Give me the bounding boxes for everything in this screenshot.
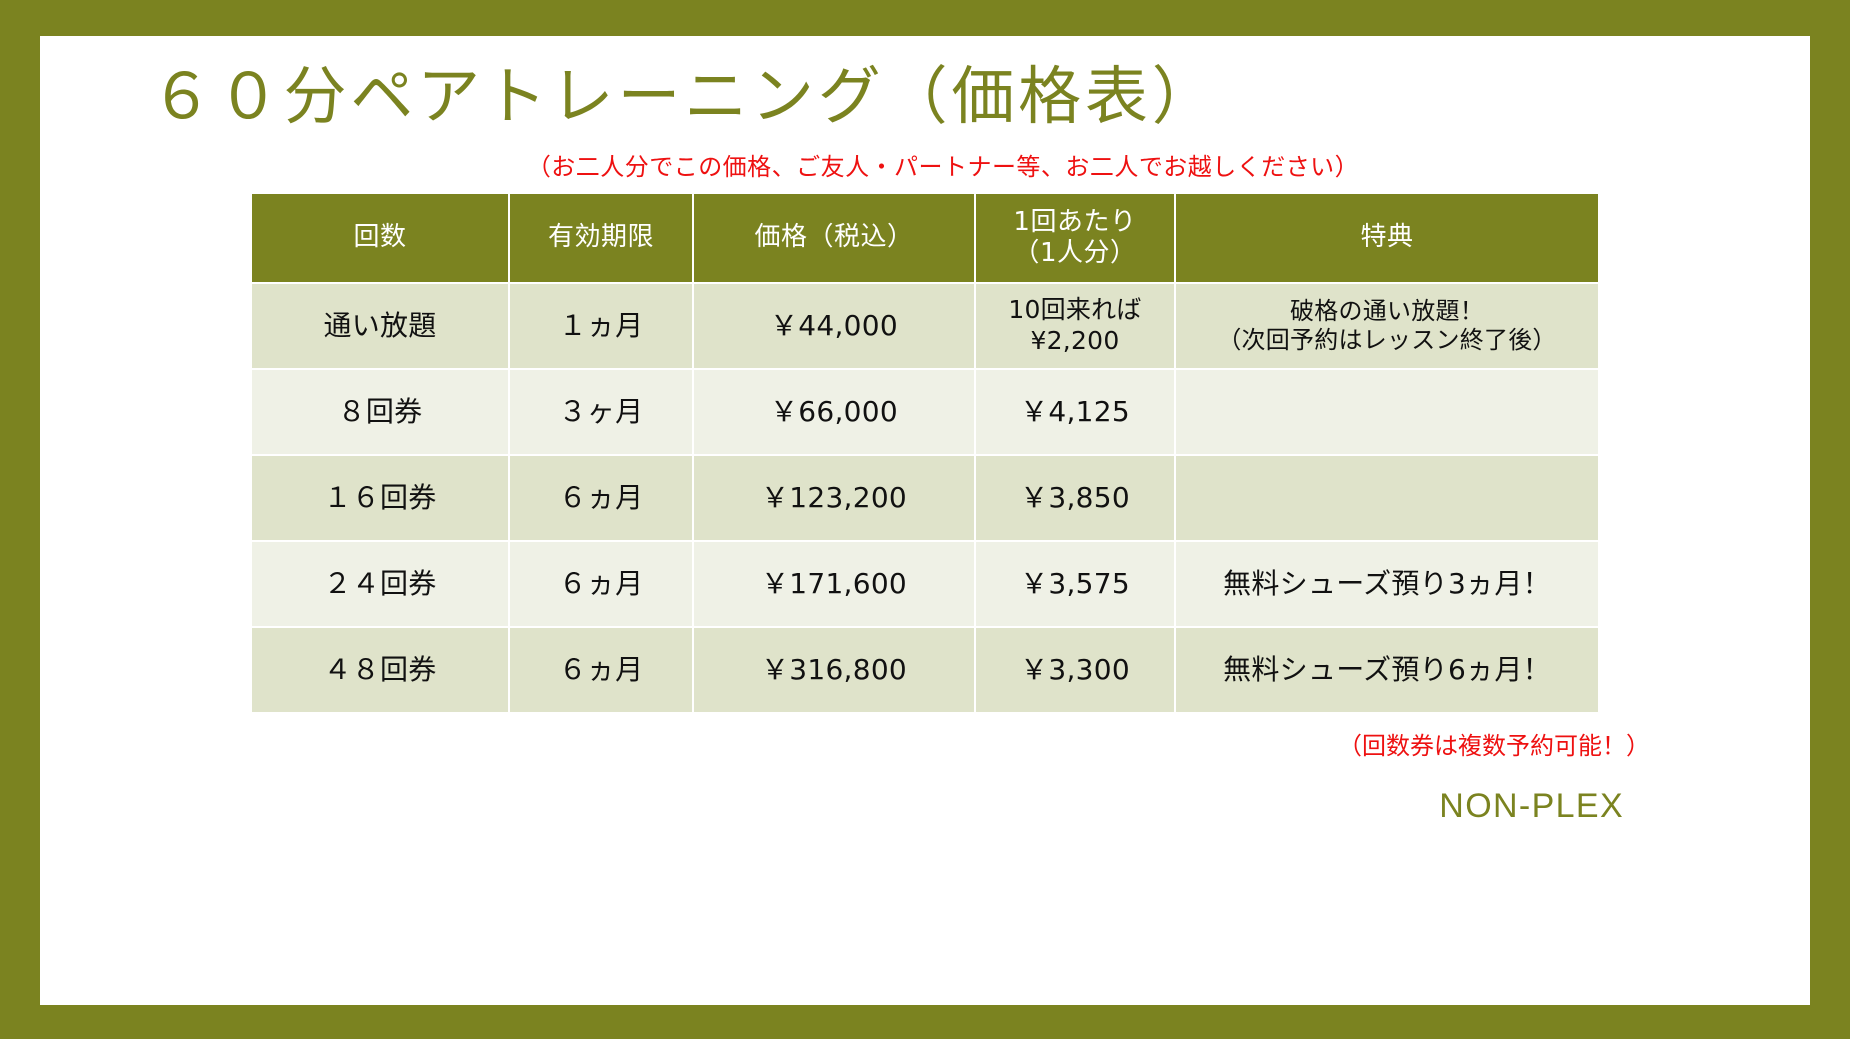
page-title: ６０分ペアトレーニング（価格表） (126, 62, 1724, 133)
column-header-per-session-line2: （1人分） (976, 238, 1174, 269)
cell-expiry: ６ヵ月 (510, 542, 692, 626)
slide-card: ６０分ペアトレーニング（価格表） （お二人分でこの価格、ご友人・パートナー等、お… (40, 36, 1810, 1005)
cell-price: ￥123,200 (694, 456, 974, 540)
slide-root: ６０分ペアトレーニング（価格表） （お二人分でこの価格、ご友人・パートナー等、お… (0, 0, 1850, 1039)
cell-count: １６回券 (252, 456, 508, 540)
cell-benefit (1176, 456, 1598, 540)
cell-expiry: ３ヶ月 (510, 370, 692, 454)
table-row: ４８回券 ６ヵ月 ￥316,800 ￥3,300 無料シューズ預り6ヵ月！ (252, 628, 1598, 712)
footer-note: （回数券は複数予約可能！） (126, 726, 1724, 761)
column-header-per-session-line1: 1回あたり (976, 207, 1174, 238)
column-header-price: 価格（税込） (694, 194, 974, 282)
table-row: １６回券 ６ヵ月 ￥123,200 ￥3,850 (252, 456, 1598, 540)
cell-per-session-line1: 10回来れば (976, 295, 1174, 326)
table-header-row: 回数 有効期限 価格（税込） 1回あたり （1人分） 特典 (252, 194, 1598, 282)
brand-logo: NON-PLEX (126, 787, 1724, 826)
cell-count: ４８回券 (252, 628, 508, 712)
cell-price: ￥44,000 (694, 284, 974, 368)
cell-price: ￥316,800 (694, 628, 974, 712)
subtitle-note: （お二人分でこの価格、ご友人・パートナー等、お二人でお越しください） (126, 147, 1724, 182)
cell-expiry: ６ヵ月 (510, 456, 692, 540)
cell-benefit: 無料シューズ預り6ヵ月！ (1176, 628, 1598, 712)
cell-expiry: １ヵ月 (510, 284, 692, 368)
column-header-benefit: 特典 (1176, 194, 1598, 282)
cell-price: ￥171,600 (694, 542, 974, 626)
price-table: 回数 有効期限 価格（税込） 1回あたり （1人分） 特典 通い放題 １ヵ月 ￥… (250, 192, 1600, 714)
table-row: ２４回券 ６ヵ月 ￥171,600 ￥3,575 無料シューズ預り3ヵ月！ (252, 542, 1598, 626)
cell-price: ￥66,000 (694, 370, 974, 454)
cell-benefit-line2: （次回予約はレッスン終了後） (1176, 326, 1598, 355)
cell-count: 通い放題 (252, 284, 508, 368)
cell-count: ８回券 (252, 370, 508, 454)
table-row: 通い放題 １ヵ月 ￥44,000 10回来れば ¥2,200 破格の通い放題！ … (252, 284, 1598, 368)
cell-benefit: 破格の通い放題！ （次回予約はレッスン終了後） (1176, 284, 1598, 368)
column-header-count: 回数 (252, 194, 508, 282)
cell-per-session: 10回来れば ¥2,200 (976, 284, 1174, 368)
cell-per-session-line2: ¥2,200 (976, 326, 1174, 357)
cell-per-session: ￥4,125 (976, 370, 1174, 454)
cell-per-session: ￥3,575 (976, 542, 1174, 626)
cell-count: ２４回券 (252, 542, 508, 626)
column-header-expiry: 有効期限 (510, 194, 692, 282)
cell-per-session: ￥3,300 (976, 628, 1174, 712)
cell-benefit-line1: 破格の通い放題！ (1176, 297, 1598, 326)
cell-benefit: 無料シューズ預り3ヵ月！ (1176, 542, 1598, 626)
cell-per-session: ￥3,850 (976, 456, 1174, 540)
column-header-per-session: 1回あたり （1人分） (976, 194, 1174, 282)
cell-benefit (1176, 370, 1598, 454)
table-body: 通い放題 １ヵ月 ￥44,000 10回来れば ¥2,200 破格の通い放題！ … (252, 284, 1598, 712)
cell-expiry: ６ヵ月 (510, 628, 692, 712)
table-header: 回数 有効期限 価格（税込） 1回あたり （1人分） 特典 (252, 194, 1598, 282)
table-row: ８回券 ３ヶ月 ￥66,000 ￥4,125 (252, 370, 1598, 454)
